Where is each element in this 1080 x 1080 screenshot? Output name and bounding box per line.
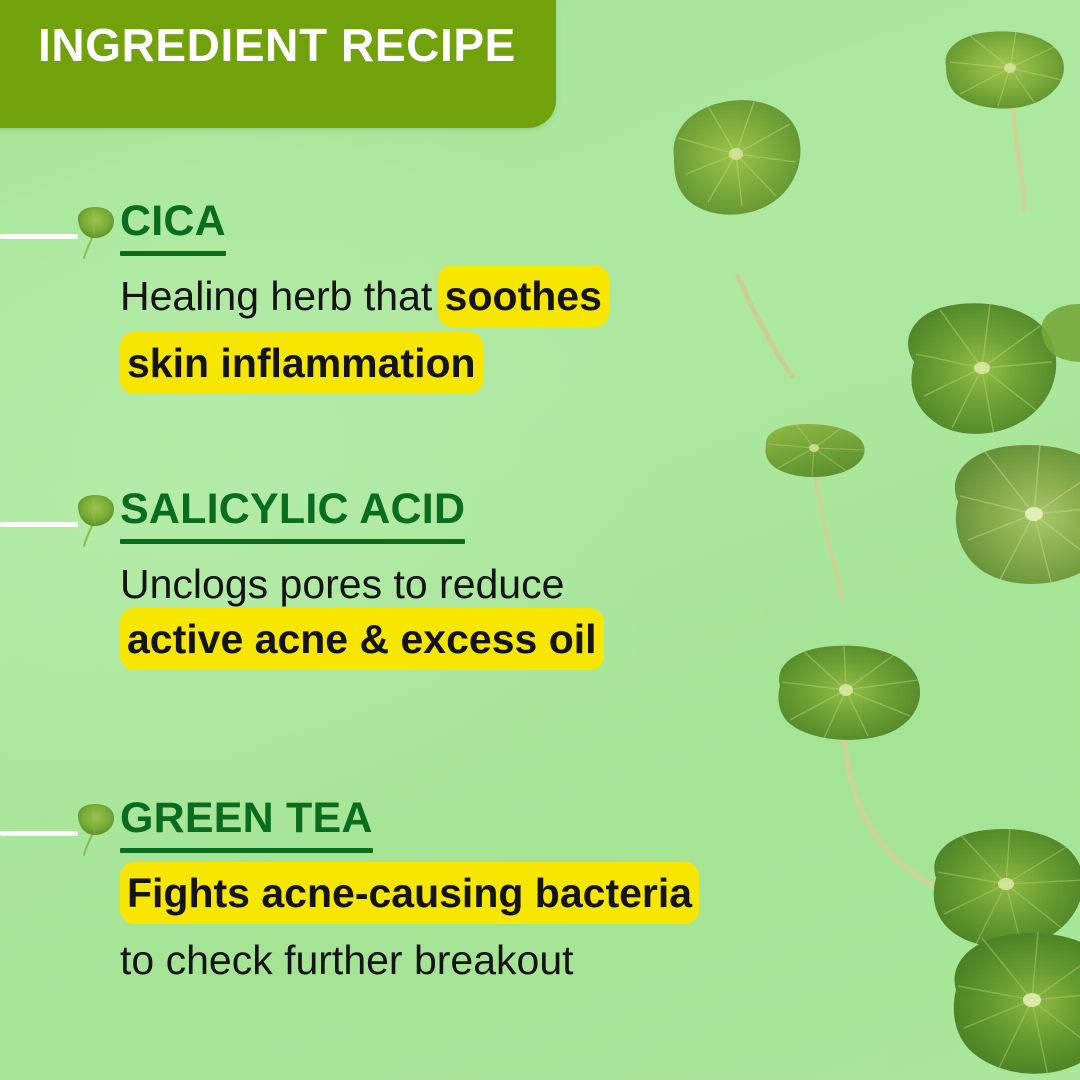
page-title: INGREDIENT RECIPE bbox=[38, 22, 516, 68]
centella-leaf-icon bbox=[74, 494, 118, 550]
description-line: Healing herb that soothes bbox=[120, 270, 960, 323]
ingredient-heading-wrap: CICA bbox=[120, 198, 226, 256]
ingredient-heading-wrap: GREEN TEA bbox=[120, 795, 373, 853]
ingredient-heading-wrap: SALICYLIC ACID bbox=[120, 486, 465, 544]
highlighted-text: skin inflammation bbox=[127, 339, 476, 387]
description-text: Healing herb that bbox=[120, 271, 432, 321]
highlighted-text: active acne & excess oil bbox=[127, 615, 597, 663]
ingredient-description: Fights acne-causing bacteria to check fu… bbox=[120, 867, 960, 990]
description-line: active acne & excess oil bbox=[120, 613, 960, 666]
ingredient-name: SALICYLIC ACID bbox=[120, 486, 465, 532]
connector-line bbox=[0, 831, 78, 836]
highlighted-text: Fights acne-causing bacteria bbox=[127, 869, 692, 917]
heading-underline bbox=[120, 848, 373, 853]
description-line: Unclogs pores to reduce bbox=[120, 558, 960, 611]
description-line: Fights acne-causing bacteria bbox=[120, 867, 960, 920]
ingredient-description: Unclogs pores to reduce active acne & ex… bbox=[120, 558, 960, 669]
ingredient-description: Healing herb that soothes skin inflammat… bbox=[120, 270, 960, 393]
description-line: to check further breakout bbox=[120, 934, 960, 987]
ingredient-name: CICA bbox=[120, 198, 226, 244]
heading-underline bbox=[120, 539, 465, 544]
pennywort-leaf-icon bbox=[940, 930, 1080, 1080]
description-line: skin inflammation bbox=[120, 337, 960, 390]
centella-leaf-icon bbox=[74, 803, 118, 859]
header-banner: INGREDIENT RECIPE bbox=[0, 0, 556, 128]
ingredient-recipe-poster: INGREDIENT RECIPE CICA Healing herb that bbox=[0, 0, 1080, 1080]
description-text: Unclogs pores to reduce bbox=[120, 559, 564, 609]
connector-line bbox=[0, 234, 78, 239]
centella-leaf-icon bbox=[74, 206, 118, 262]
description-text: to check further breakout bbox=[120, 935, 574, 985]
heading-underline bbox=[120, 251, 226, 256]
highlighted-text: soothes bbox=[445, 272, 602, 320]
connector-line bbox=[0, 522, 78, 527]
ingredient-name: GREEN TEA bbox=[120, 795, 373, 841]
pennywort-leaf-icon bbox=[928, 24, 1080, 234]
pennywort-leaf-icon bbox=[1036, 300, 1080, 370]
